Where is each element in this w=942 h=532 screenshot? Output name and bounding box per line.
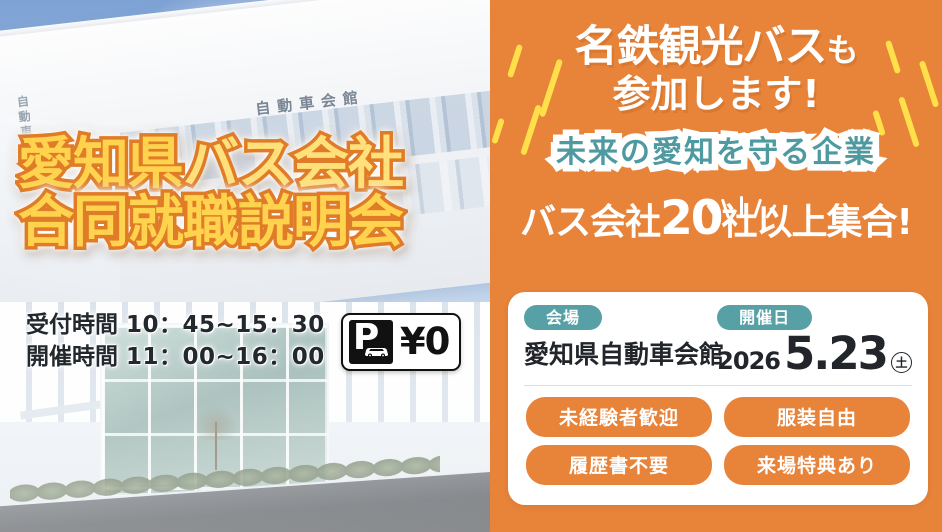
feature-tag: 未経験者歓迎 bbox=[526, 397, 712, 437]
headline-line-1: 名鉄観光バスも bbox=[490, 24, 942, 71]
burst-lines-icon bbox=[707, 192, 777, 218]
main-title-line-2: 合同就職説明会 bbox=[18, 194, 403, 252]
date-block: 開催日 2026 5.23 土 bbox=[717, 305, 912, 376]
event-time-row: 開催時間 11：00~16：00 bbox=[26, 342, 325, 374]
main-title-prefecture: 愛知県 bbox=[18, 132, 183, 197]
feature-tag: 履歴書不要 bbox=[526, 445, 712, 485]
date-value-row: 2026 5.23 土 bbox=[717, 333, 912, 376]
time-info: 受付時間 10：45~15：30 開催時間 11：00~16：00 bbox=[26, 310, 325, 373]
event-day-of-week: 土 bbox=[891, 352, 912, 373]
tagline-cloud-text: 未来の愛知を守る企業 bbox=[490, 127, 942, 171]
venue-photo-panel: 自動車会館 自動車会館 愛知県バス会社 合同就職説明会 受付時間 10：45~1 bbox=[0, 0, 490, 532]
venue-name: 愛知県自動車会館 bbox=[524, 335, 707, 371]
free-parking-badge: P ¥0 bbox=[341, 313, 462, 371]
reception-time-value: 10：45~15：30 bbox=[126, 312, 325, 338]
card-top-row: 会場 愛知県自動車会館 開催日 2026 5.23 土 bbox=[508, 292, 928, 376]
feature-tag: 来場特典あり bbox=[724, 445, 910, 485]
company-count-prefix: バス会社 bbox=[520, 202, 660, 243]
reception-time-label: 受付時間 bbox=[26, 312, 118, 338]
feature-tag: 服装自由 bbox=[724, 397, 910, 437]
parking-price: ¥0 bbox=[400, 323, 450, 360]
event-details-card: 会場 愛知県自動車会館 開催日 2026 5.23 土 未経験者歓迎 服装自由 … bbox=[508, 292, 928, 505]
time-and-parking-row: 受付時間 10：45~15：30 開催時間 11：00~16：00 P bbox=[26, 310, 461, 373]
feature-tag-list: 未経験者歓迎 服装自由 履歴書不要 来場特典あり bbox=[508, 386, 928, 485]
event-time-value: 11：00~16：00 bbox=[126, 344, 325, 370]
main-title-line-1: 愛知県バス会社 bbox=[18, 136, 403, 194]
event-time-label: 開催時間 bbox=[26, 344, 118, 370]
venue-block: 会場 愛知県自動車会館 bbox=[524, 305, 707, 371]
main-title-buscompany: バス会社 bbox=[183, 132, 403, 197]
headline-line-2: 参加します! bbox=[490, 73, 942, 117]
parking-icon: P bbox=[349, 320, 393, 364]
headline-company: 名鉄観光バス bbox=[574, 22, 826, 72]
event-banner: 自動車会館 自動車会館 愛知県バス会社 合同就職説明会 受付時間 10：45~1 bbox=[0, 0, 942, 532]
main-title: 愛知県バス会社 合同就職説明会 bbox=[18, 136, 403, 252]
car-icon bbox=[363, 345, 390, 358]
venue-badge: 会場 bbox=[524, 305, 602, 330]
photo-overlay-fade bbox=[0, 0, 490, 532]
announcement-headline: 名鉄観光バスも 参加します! bbox=[490, 0, 942, 117]
reception-time-row: 受付時間 10：45~15：30 bbox=[26, 310, 325, 342]
info-panel: 名鉄観光バスも 参加します! 未来の愛知を守る企業 バス会社20社以上集合! 会… bbox=[490, 0, 942, 532]
event-month-day: 5.23 bbox=[784, 333, 887, 376]
event-year: 2026 bbox=[717, 347, 780, 375]
headline-particle: も bbox=[826, 31, 857, 69]
